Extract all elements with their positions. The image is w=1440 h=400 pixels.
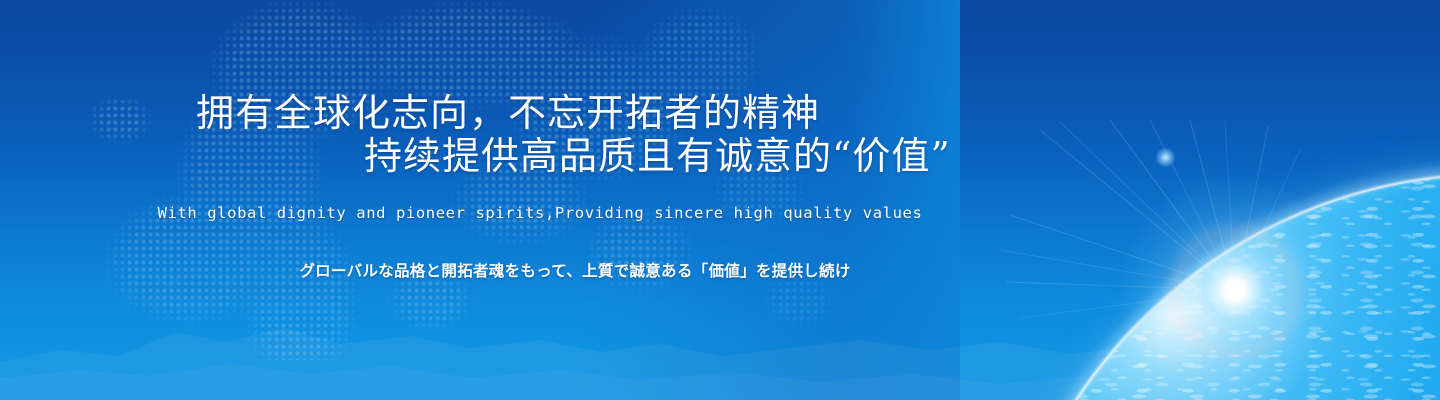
planet-rim-glow xyxy=(988,168,1440,400)
banner-copy: 拥有全球化志向，不忘开拓者的精神 持续提供高品质且有诚意的“价值” With g… xyxy=(0,0,1060,400)
planet-graphic xyxy=(880,0,1440,400)
sun-bloom-glow xyxy=(1120,175,1350,400)
subtitle-english: With global dignity and pioneer spirits,… xyxy=(0,204,1060,222)
planet-rim-highlight xyxy=(993,173,1440,400)
lens-flare-ring-icon xyxy=(1170,227,1300,357)
map-fade-overlay xyxy=(0,0,960,400)
headline-line-2: 持续提供高品质且有诚意的“价值” xyxy=(0,131,1060,181)
earth-planet-icon xyxy=(995,175,1440,400)
secondary-lens-flare-dot-icon xyxy=(1156,148,1175,167)
sun-flare-icon xyxy=(1197,252,1273,328)
headline-line-1: 拥有全球化志向，不忘开拓者的精神 xyxy=(0,88,1060,138)
hero-banner: 拥有全球化志向，不忘开拓者的精神 持续提供高品质且有诚意的“价值” With g… xyxy=(0,0,1440,400)
world-map-dots-icon xyxy=(0,0,900,360)
planet-surface-texture xyxy=(995,175,1440,400)
sun-ray-streaks-icon xyxy=(1000,120,1340,360)
subtitle-japanese: グローバルな品格と開拓者魂をもって、上質で誠意ある「価値」を提供し続け xyxy=(0,259,1060,281)
mountain-ridge-silhouette-icon xyxy=(0,270,1440,400)
